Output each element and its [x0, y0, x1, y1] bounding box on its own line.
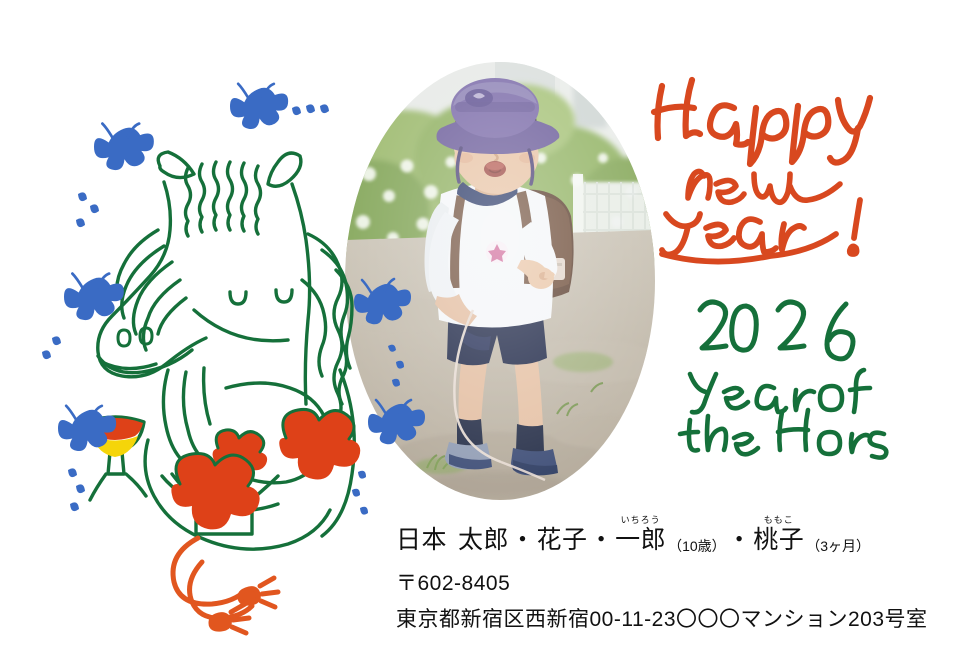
member-name-3: 桃子	[753, 528, 804, 553]
member-3-furigana: ももこ	[764, 516, 794, 526]
the-horse-text	[680, 410, 886, 458]
horse-illustration	[40, 70, 400, 630]
plum-blossom-group	[171, 409, 360, 529]
year-text	[662, 200, 860, 262]
name-separator: ・	[509, 528, 537, 553]
member-3-ruby-group: ももこ 桃子	[753, 516, 804, 553]
member-name-0: 太郎	[458, 528, 509, 553]
year-of-horse-handwriting	[678, 292, 883, 460]
member-3-age: （3ヶ月）	[806, 539, 870, 553]
new-text	[688, 171, 840, 202]
member-2-furigana: いちろう	[621, 516, 661, 526]
butterfly-icon	[94, 124, 154, 171]
new-year-card: 日本 太郎 ・ 花子 ・ いちろう 一郎 （10歳） ・ ももこ 桃子 （3ヶ月…	[0, 0, 960, 661]
tassel-cord-group	[173, 538, 278, 633]
year-of-text	[690, 370, 870, 412]
member-name-2: 一郎	[615, 528, 666, 553]
family-name: 日本	[396, 528, 447, 553]
member-name-1: 花子	[537, 528, 588, 553]
year-2026-text	[700, 302, 853, 359]
name-separator: ・	[726, 528, 754, 553]
address: 東京都新宿区西新宿00-11-23〇〇〇マンション203号室	[396, 603, 936, 633]
sender-name-line: 日本 太郎 ・ 花子 ・ いちろう 一郎 （10歳） ・ ももこ 桃子 （3ヶ月…	[396, 516, 936, 553]
happy-text	[654, 80, 870, 164]
postal-code: 〒602-8405	[396, 567, 936, 597]
sender-text-block: 日本 太郎 ・ 花子 ・ いちろう 一郎 （10歳） ・ ももこ 桃子 （3ヶ月…	[396, 516, 936, 633]
member-2-ruby-group: いちろう 一郎	[615, 516, 666, 553]
greeting-handwriting	[648, 72, 898, 257]
name-separator: ・	[588, 528, 616, 553]
butterfly-icon	[230, 84, 288, 129]
member-2-age: （10歳）	[668, 539, 726, 553]
